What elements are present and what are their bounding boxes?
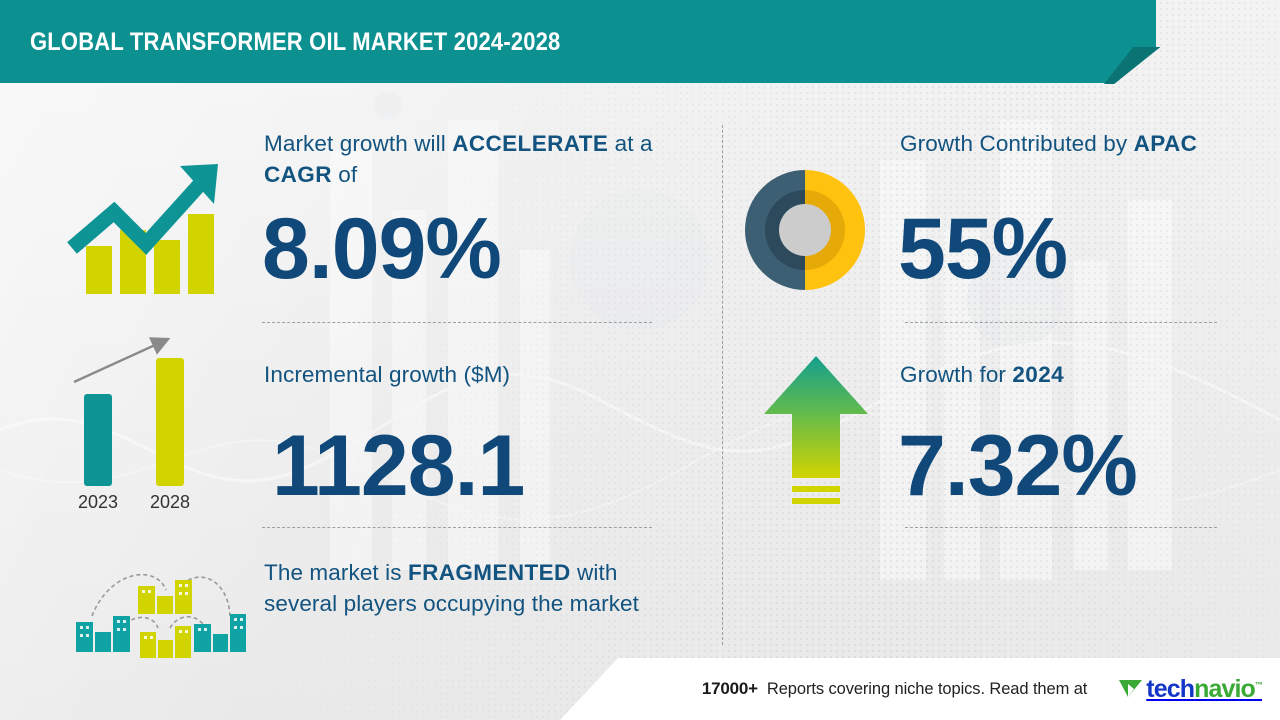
logo-navio-part: navio [1194,675,1255,703]
footer: 17000+ Reports covering niche topics. Re… [0,658,1280,720]
logo-tech-part: tech [1146,675,1194,703]
column-divider [722,125,723,645]
cagr-acronym-emphasis: CAGR [264,162,332,187]
up-arrow-icon [760,352,872,512]
growth-2024-text-part1: Growth for [900,362,1012,387]
cagr-text-part1: Market growth will [264,131,452,156]
fragmentation-text-part1: The market is [264,560,408,585]
growth-chart-icon [62,150,238,300]
growth-2024-year-emphasis: 2024 [1012,362,1064,387]
cagr-text-part2: at a [608,131,652,156]
bar-label-2023: 2023 [78,492,118,512]
growth-2024-description: Growth for 2024 [900,359,1064,390]
incremental-growth-label: Incremental growth ($M) [264,359,510,390]
donut-chart-icon [740,165,870,295]
fragmentation-description: The market is FRAGMENTED with several pl… [264,557,679,619]
apac-description: Growth Contributed by APAC [900,128,1220,159]
technavio-wordmark: technavio™ [1146,677,1262,702]
footer-content: 17000+ Reports covering niche topics. Re… [560,658,1280,720]
technavio-logo[interactable]: technavio™ [1118,677,1262,702]
fragmented-market-icon [70,556,250,664]
right-divider-2 [905,527,1217,528]
cagr-description: Market growth will ACCELERATE at a CAGR … [264,128,664,190]
cagr-value: 8.09% [262,206,501,292]
bar-comparison-icon: 2023 2028 [62,332,242,517]
content-area: 2023 2028 [0,0,1280,720]
reports-count: 17000+ [702,679,758,699]
cagr-text-part3: of [332,162,357,187]
right-divider-1 [905,322,1217,323]
apac-emphasis: APAC [1134,131,1198,156]
growth-2024-value: 7.32% [898,423,1137,509]
fragmented-emphasis: FRAGMENTED [408,560,571,585]
footer-tagline: Reports covering niche topics. Read them… [767,680,1087,699]
apac-value: 55% [898,206,1067,292]
left-divider-1 [262,322,652,323]
apac-text-part1: Growth Contributed by [900,131,1134,156]
cagr-accelerate-emphasis: ACCELERATE [452,131,608,156]
bar-label-2028: 2028 [150,492,190,512]
page-title: GLOBAL TRANSFORMER OIL MARKET 2024-2028 [30,28,560,57]
technavio-arrow-icon [1118,677,1144,701]
incremental-growth-value: 1128.1 [272,423,524,509]
trademark-symbol: ™ [1255,680,1262,689]
left-divider-2 [262,527,652,528]
